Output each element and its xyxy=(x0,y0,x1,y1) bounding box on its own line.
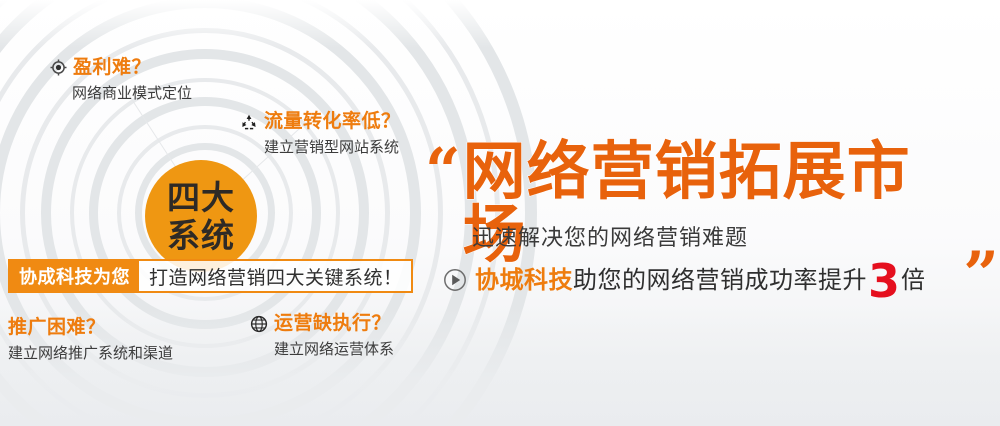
play-arrow-circle-icon xyxy=(443,268,467,292)
tagline-strip: 协成科技为您 打造网络营销四大关键系统！ xyxy=(8,259,413,293)
quote-close-icon: „ xyxy=(964,214,1000,264)
globe-icon xyxy=(250,315,268,333)
callout-profit-heading: 盈利难？ xyxy=(73,58,151,77)
hero-brand: 协城科技 xyxy=(475,268,573,292)
callout-traffic: 流量转化率低？ 建立营销型网站系统 xyxy=(240,112,401,155)
hero-subline-2-rest: 助您的网络营销成功率提升 xyxy=(573,268,867,292)
callout-operations: 运营缺执行？ 建立网络运营体系 xyxy=(250,314,394,357)
hero-panel: “ 网络营销拓展市场 „ 迅速解决您的网络营销难题 协城科技 助您的网络营销成功… xyxy=(425,0,1000,426)
callout-promotion-heading: 推广困难？ xyxy=(8,318,106,337)
callout-operations-heading: 运营缺执行？ xyxy=(274,314,391,333)
recycle-icon xyxy=(240,113,258,131)
callout-operations-subtext: 建立网络运营体系 xyxy=(274,342,394,357)
tagline-strip-brand: 协成科技为您 xyxy=(10,261,139,291)
quote-open-icon: “ xyxy=(425,146,461,196)
callout-profit: 盈利难？ 网络商业模式定位 xyxy=(50,58,192,101)
callout-traffic-subtext: 建立营销型网站系统 xyxy=(264,140,401,155)
crosshair-target-icon xyxy=(50,59,67,76)
marketing-banner: 四大 系统 盈利难？ 网络商业模式定位 xyxy=(0,0,1000,426)
hero-subline-1: 迅速解决您的网络营销难题 xyxy=(472,228,748,250)
hero-subline-2: 协城科技 助您的网络营销成功率提升 3 倍 xyxy=(443,260,925,299)
hero-multiplier: 3 xyxy=(868,262,900,301)
callout-traffic-heading: 流量转化率低？ xyxy=(264,112,401,131)
callout-profit-subtext: 网络商业模式定位 xyxy=(72,86,192,101)
hero-multiplier-unit: 倍 xyxy=(901,268,925,292)
center-badge-line-2: 系统 xyxy=(167,219,235,252)
callout-promotion-subtext: 建立网络推广系统和渠道 xyxy=(8,346,173,361)
center-badge: 四大 系统 xyxy=(145,160,257,272)
callout-promotion: 推广困难？ 建立网络推广系统和渠道 xyxy=(8,318,173,361)
center-badge-line-1: 四大 xyxy=(167,181,235,214)
tagline-strip-message: 打造网络营销四大关键系统！ xyxy=(139,261,411,291)
